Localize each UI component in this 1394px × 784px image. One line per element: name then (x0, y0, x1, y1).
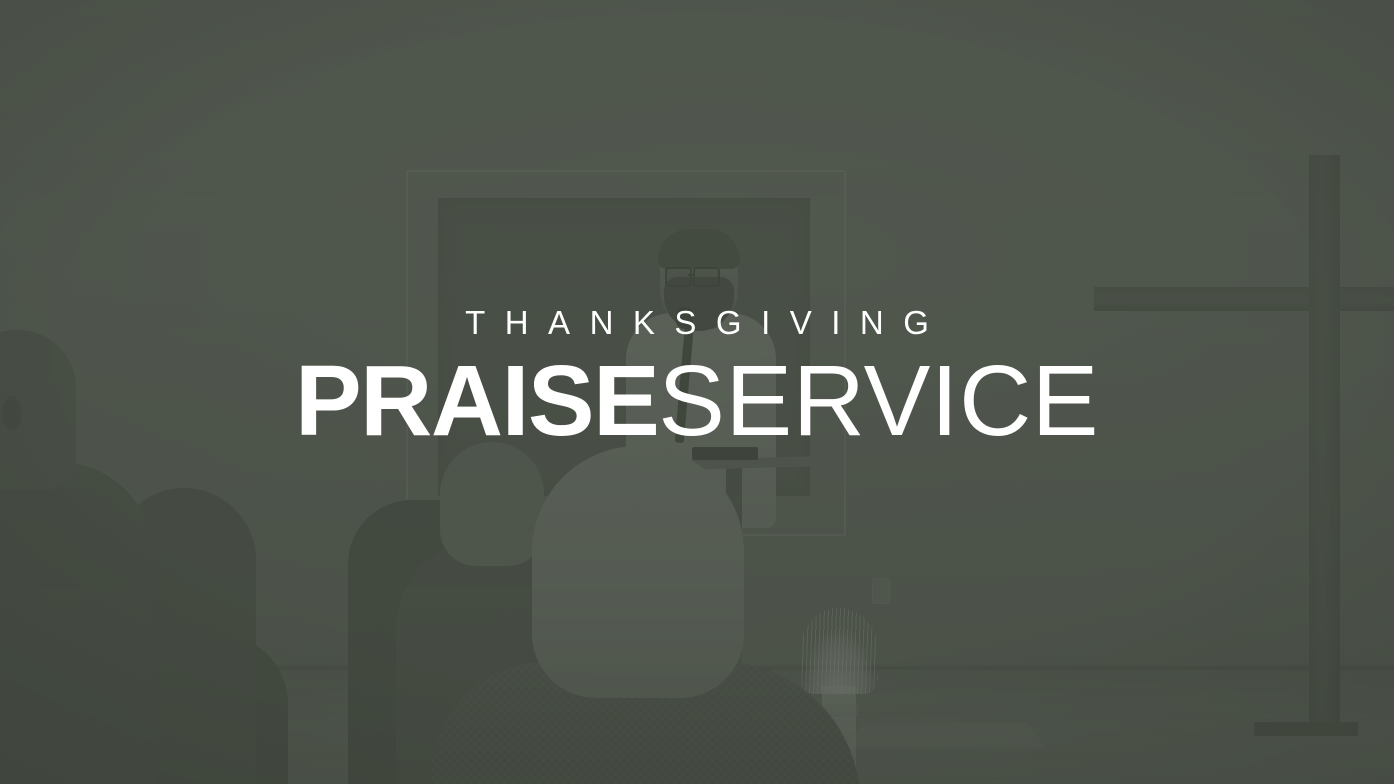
headline-light-word: SERVICE (658, 345, 1099, 457)
headline-bold-word: PRAISE (295, 345, 658, 457)
headline: PRAISESERVICE (0, 353, 1394, 479)
title-lockup: THANKSGIVING PRAISESERVICE (0, 302, 1394, 479)
title-slide: THANKSGIVING PRAISESERVICE (0, 0, 1394, 784)
eyebrow-text: THANKSGIVING (0, 302, 1394, 344)
